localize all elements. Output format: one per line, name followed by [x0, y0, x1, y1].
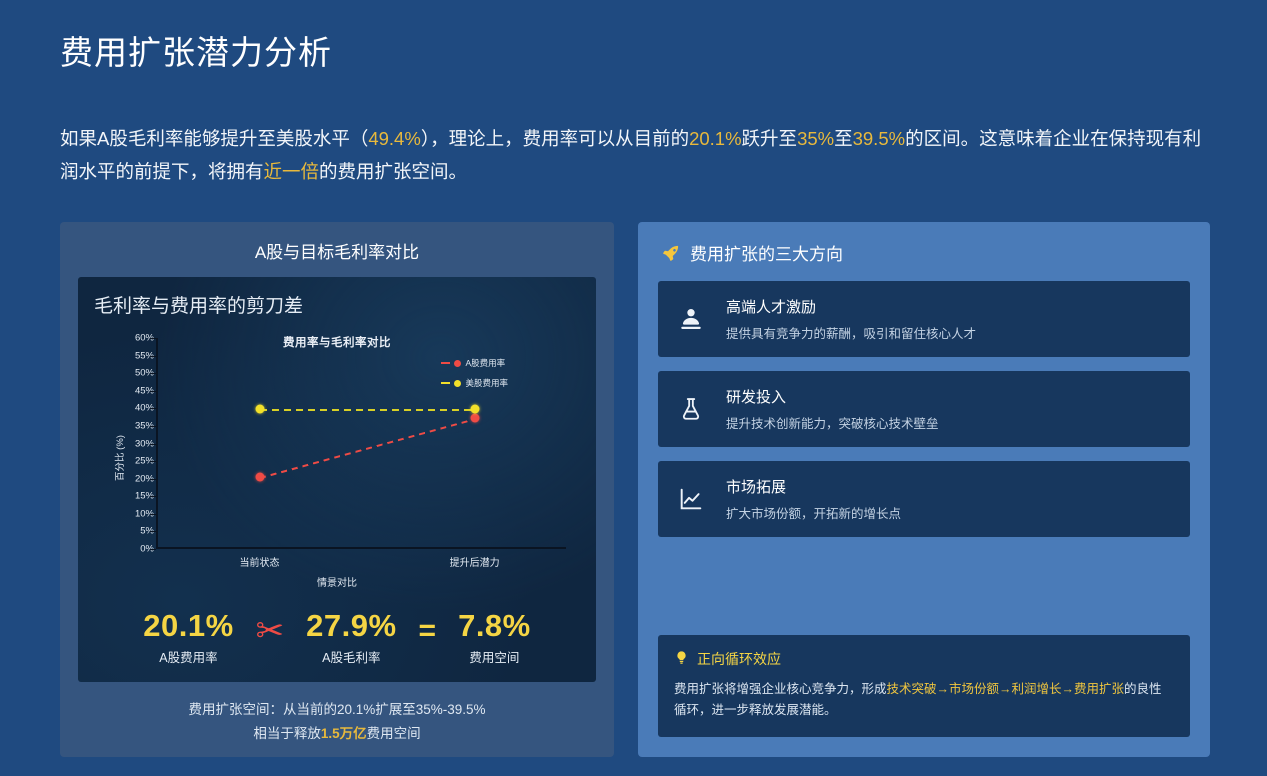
content-columns: A股与目标毛利率对比 毛利率与费用率的剪刀差 费用率与毛利率对比 A股费用率: [60, 222, 1210, 757]
chart-ytick-mark: [150, 479, 156, 480]
loop-text-highlight: 技术突破→市场份额→利润增长→费用扩张: [887, 682, 1125, 696]
direction-desc: 扩大市场份额，开拓新的增长点: [726, 503, 901, 522]
direction-desc: 提升技术创新能力，突破核心技术壁垒: [726, 413, 939, 432]
chart-ytick-mark: [150, 444, 156, 445]
right-panel: 费用扩张的三大方向 高端人才激励 提供具有竞争力的薪酬，吸引和留住核心人才: [638, 222, 1210, 757]
chart-data-point: [470, 405, 479, 414]
stat-value: 7.8%: [458, 609, 531, 643]
chart-ytick-mark: [150, 496, 156, 497]
chart-xaxis-line: [156, 547, 566, 549]
scissors-icon: ✂: [256, 614, 285, 662]
positive-loop-title: 正向循环效应: [697, 649, 781, 669]
left-panel: A股与目标毛利率对比 毛利率与费用率的剪刀差 费用率与毛利率对比 A股费用率: [60, 222, 614, 757]
person-icon: [676, 306, 706, 332]
chart-yaxis-ticks: 0%5%10%15%20%25%30%35%40%45%50%55%60%: [108, 320, 154, 595]
stat-label: A股毛利率: [306, 647, 396, 666]
lede-seg-6: 的费用扩张空间。: [319, 161, 467, 182]
direction-card-rnd[interactable]: 研发投入 提升技术创新能力，突破核心技术壁垒: [658, 371, 1190, 447]
caption-line-1: 费用扩张空间：从当前的20.1%扩展至35%-39.5%: [78, 698, 596, 722]
stats-row: 20.1% A股费用率 ✂ 27.9% A股毛利率 = 7.8% 费用空间: [94, 609, 580, 672]
chart-card-title: 毛利率与费用率的剪刀差: [94, 291, 580, 318]
direction-card-text: 研发投入 提升技术创新能力，突破核心技术壁垒: [726, 386, 939, 432]
chart-card: 毛利率与费用率的剪刀差 费用率与毛利率对比 A股费用率 美股费用率: [78, 277, 596, 682]
lede-highlight-lower-target: 35%: [797, 128, 834, 149]
direction-card-market[interactable]: 市场拓展 扩大市场份额，开拓新的增长点: [658, 461, 1190, 537]
chart-xtick-label: 当前状态: [240, 554, 280, 569]
right-panel-header-label: 费用扩张的三大方向: [690, 240, 843, 265]
caption-line-2-pre: 相当于释放: [253, 726, 321, 741]
chart-ytick-mark: [150, 391, 156, 392]
direction-title: 市场拓展: [726, 476, 901, 497]
stat-value: 27.9%: [306, 609, 396, 643]
direction-title: 研发投入: [726, 386, 939, 407]
lede-highlight-upper-target: 39.5%: [853, 128, 905, 149]
chart-ytick-mark: [150, 356, 156, 357]
right-panel-header: 费用扩张的三大方向: [658, 240, 1190, 265]
rocket-icon: [662, 244, 680, 262]
lede-highlight-current-rate: 20.1%: [689, 128, 741, 149]
positive-loop-header: 正向循环效应: [674, 649, 1174, 669]
chart-line-icon: [676, 486, 706, 512]
chart-ytick-mark: [150, 408, 156, 409]
left-panel-title: A股与目标毛利率对比: [78, 238, 596, 263]
lede-seg-2: ），理论上，费用率可以从目前的: [421, 128, 689, 149]
chart-data-point: [255, 405, 264, 414]
equals-icon: =: [419, 616, 437, 660]
lede-seg-3: 跃升至: [742, 128, 798, 149]
chart-ytick-mark: [150, 461, 156, 462]
caption-line-2-post: 费用空间: [367, 726, 421, 741]
chart-series-line: [259, 418, 475, 479]
lede-highlight-double: 近一倍: [264, 161, 320, 182]
lede-seg-4: 至: [834, 128, 853, 149]
loop-text-pre: 费用扩张将增强企业核心竞争力，形成: [674, 682, 887, 696]
chart-ytick-mark: [150, 514, 156, 515]
lede-highlight-gross-margin: 49.4%: [368, 128, 420, 149]
flask-icon: [676, 396, 706, 422]
direction-card-text: 市场拓展 扩大市场份额，开拓新的增长点: [726, 476, 901, 522]
lede-seg-1: 如果A股毛利率能够提升至美股水平（: [60, 128, 368, 149]
chart-ytick-mark: [150, 426, 156, 427]
caption-line-2: 相当于释放1.5万亿费用空间: [78, 722, 596, 746]
direction-desc: 提供具有竞争力的薪酬，吸引和留住核心人才: [726, 323, 976, 342]
stat-value: 20.1%: [143, 609, 233, 643]
positive-loop-box: 正向循环效应 费用扩张将增强企业核心竞争力，形成技术突破→市场份额→利润增长→费…: [658, 635, 1190, 737]
direction-title: 高端人才激励: [726, 296, 976, 317]
stat-gross-margin: 27.9% A股毛利率: [306, 609, 396, 666]
chart-data-point: [470, 414, 479, 423]
lightbulb-icon: [674, 650, 689, 668]
page-title: 费用扩张潜力分析: [60, 26, 332, 74]
caption-line-2-highlight: 1.5万亿: [321, 726, 367, 741]
chart-xaxis-title: 情景对比: [94, 574, 580, 589]
chart-plot: 费用率与毛利率对比 A股费用率 美股费用率 百分比: [94, 320, 580, 595]
right-panel-spacer: [658, 551, 1190, 635]
lede-paragraph: 如果A股毛利率能够提升至美股水平（49.4%），理论上，费用率可以从目前的20.…: [60, 122, 1210, 188]
direction-card-talent[interactable]: 高端人才激励 提供具有竞争力的薪酬，吸引和留住核心人才: [658, 281, 1190, 357]
chart-xtick-label: 提升后潜力: [450, 554, 500, 569]
stat-label: A股费用率: [143, 647, 233, 666]
stat-expense-rate: 20.1% A股费用率: [143, 609, 233, 666]
chart-ytick-mark: [150, 531, 156, 532]
chart-data-point: [255, 472, 264, 481]
stat-label: 费用空间: [458, 647, 531, 666]
chart-plot-area: [158, 338, 564, 547]
stat-expense-room: 7.8% 费用空间: [458, 609, 531, 666]
positive-loop-text: 费用扩张将增强企业核心竞争力，形成技术突破→市场份额→利润增长→费用扩张的良性循…: [674, 679, 1174, 721]
chart-series-line: [260, 409, 475, 411]
slide-root: 费用扩张潜力分析 如果A股毛利率能够提升至美股水平（49.4%），理论上，费用率…: [0, 0, 1267, 776]
chart-ytick-mark: [150, 338, 156, 339]
chart-ytick-mark: [150, 373, 156, 374]
chart-ytick-mark: [150, 549, 156, 550]
left-panel-caption: 费用扩张空间：从当前的20.1%扩展至35%-39.5% 相当于释放1.5万亿费…: [78, 698, 596, 746]
direction-card-text: 高端人才激励 提供具有竞争力的薪酬，吸引和留住核心人才: [726, 296, 976, 342]
